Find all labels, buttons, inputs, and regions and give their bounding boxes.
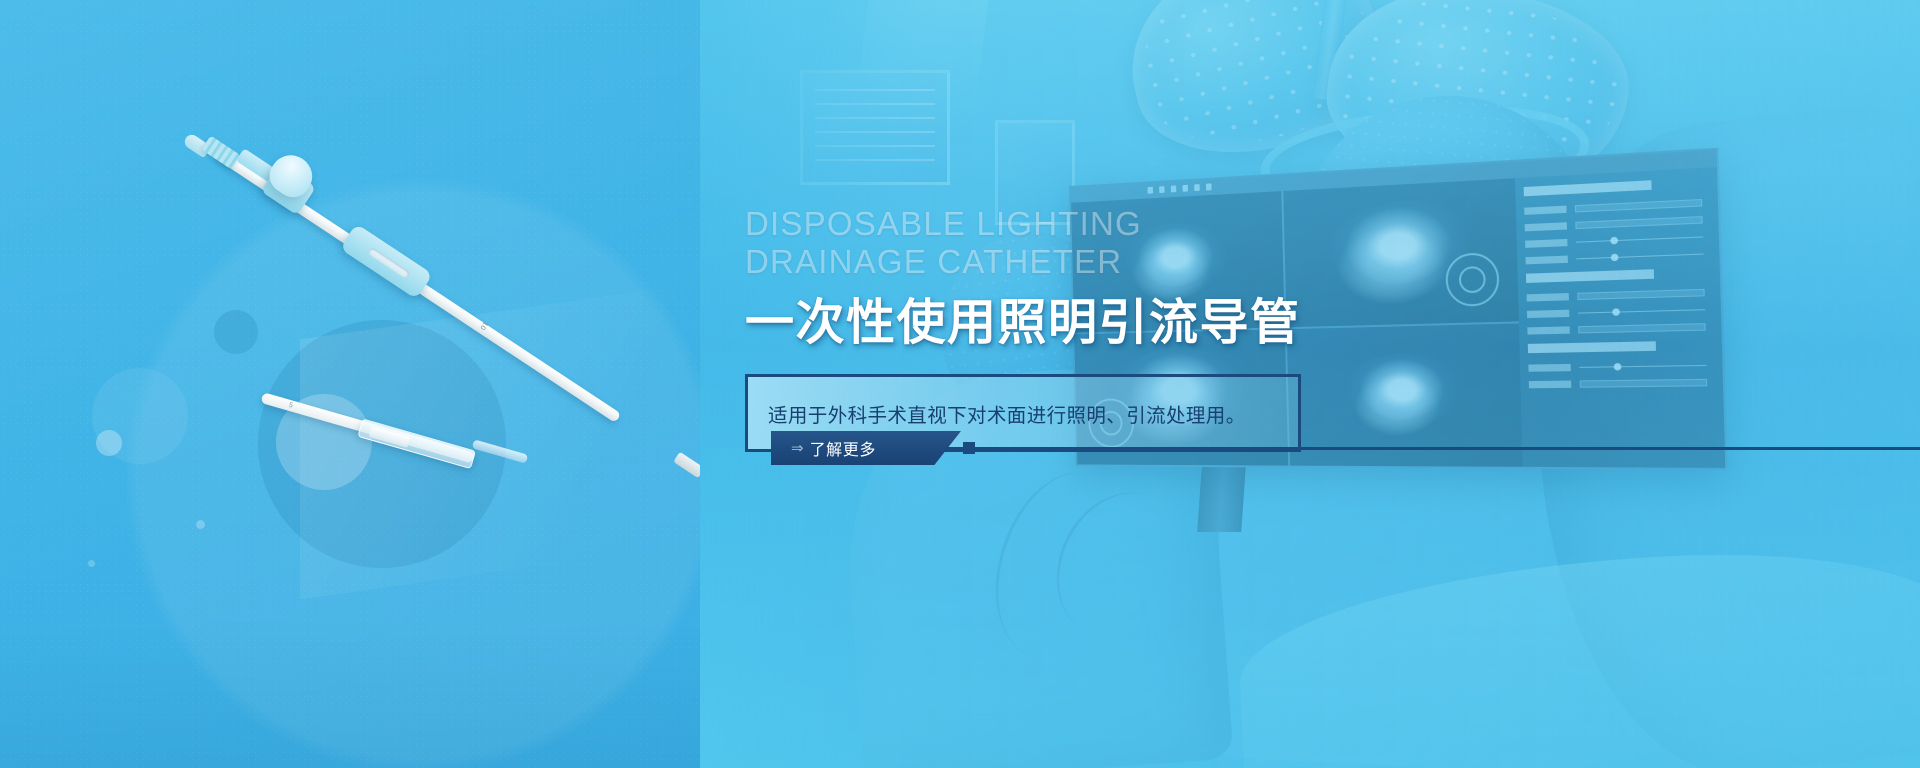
- decorative-circle: [196, 520, 205, 529]
- panel-row: [1527, 289, 1712, 302]
- arrow-right-icon: ⇒: [791, 441, 801, 456]
- panel-row: [1527, 306, 1712, 318]
- panel-heading: [1524, 180, 1652, 196]
- catheter-slide-clamp: [340, 223, 433, 299]
- panel-row: [1526, 250, 1711, 264]
- hero-banner: 10 5 DISPOSABLE LIGHTING DRAINAGE CATHET…: [0, 0, 1920, 768]
- cta-row: ⇒ 了解更多: [771, 431, 1920, 465]
- wall-monitor-small: [800, 70, 950, 185]
- panel-row: [1525, 216, 1710, 232]
- catheter-product-photo: 10: [182, 126, 742, 466]
- cta-square-dot: [963, 442, 975, 454]
- learn-more-label: 了解更多: [810, 436, 876, 460]
- panel-row: [1529, 379, 1714, 389]
- learn-more-button[interactable]: ⇒ 了解更多: [771, 431, 961, 465]
- panel-row: [1528, 362, 1713, 372]
- panel-heading: [1528, 341, 1656, 353]
- hero-text-block: DISPOSABLE LIGHTING DRAINAGE CATHETER 一次…: [745, 205, 1325, 452]
- decorative-circle: [88, 560, 95, 567]
- clamp-slot: [367, 247, 410, 279]
- monitor-side-panel: [1515, 167, 1725, 468]
- orientation-control-icon: [1445, 252, 1500, 307]
- panel-row: [1524, 199, 1709, 215]
- description-text: 适用于外科手术直视下对术面进行照明、引流处理用。: [748, 399, 1246, 428]
- english-subtitle: DISPOSABLE LIGHTING DRAINAGE CATHETER: [745, 205, 1325, 282]
- panel-row: [1527, 323, 1712, 335]
- decorative-circle: [96, 430, 122, 456]
- tube-graduation-label: 5: [288, 402, 294, 410]
- panel-row: [1525, 233, 1710, 248]
- panel-heading: [1526, 269, 1654, 283]
- page-title: 一次性使用照明引流导管: [745, 296, 1325, 351]
- monitor-tool-icons: [1148, 183, 1212, 193]
- brain-scan-3d: [1334, 352, 1471, 440]
